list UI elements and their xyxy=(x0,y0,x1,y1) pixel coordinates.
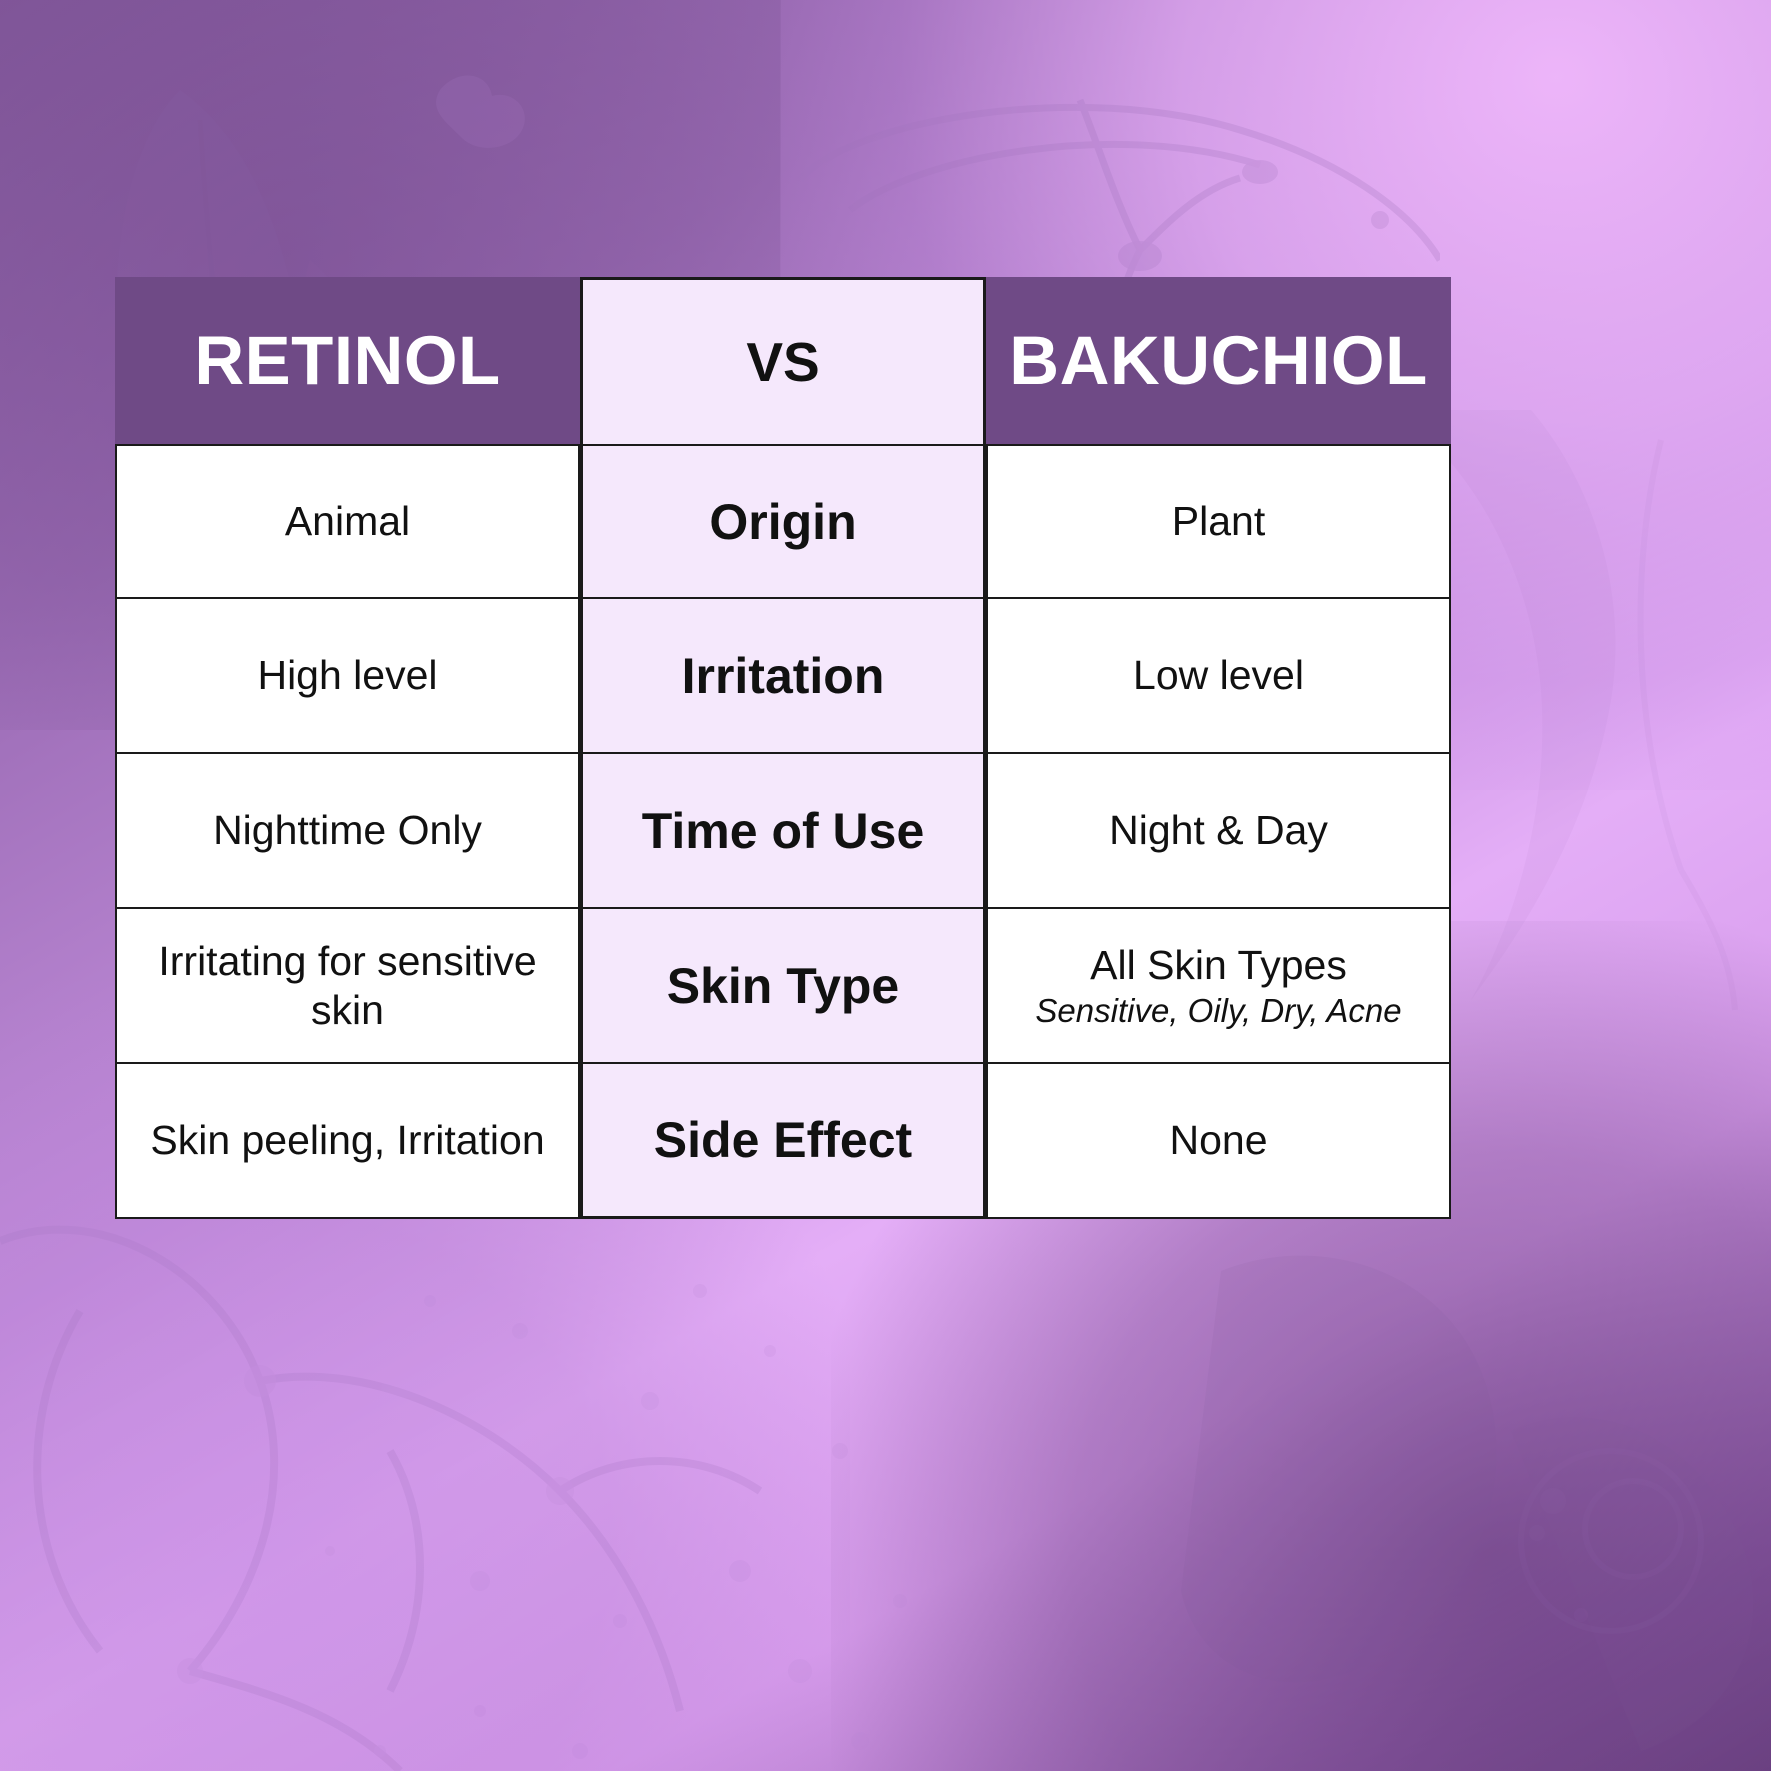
cell-bakuchiol-skin-type: All Skin Types Sensitive, Oily, Dry, Acn… xyxy=(986,909,1451,1064)
cell-main-text: None xyxy=(1169,1116,1267,1164)
cell-bakuchiol-time-of-use: Night & Day xyxy=(986,754,1451,909)
cell-label-side-effect: Side Effect xyxy=(580,1064,986,1219)
cell-retinol-origin: Animal xyxy=(115,444,580,599)
cell-retinol-irritation: High level xyxy=(115,599,580,754)
table-row: High level Irritation Low level xyxy=(115,599,1451,754)
cell-retinol-skin-type: Irritating for sensitive skin xyxy=(115,909,580,1064)
header-cell-vs: VS xyxy=(580,277,986,444)
table-row: Animal Origin Plant xyxy=(115,444,1451,599)
table-header-row: RETINOL VS BAKUCHIOL xyxy=(115,277,1451,444)
cell-label-origin: Origin xyxy=(580,444,986,599)
cell-main-text: Plant xyxy=(1172,497,1265,545)
cell-main-text: Night & Day xyxy=(1109,806,1328,854)
cell-bakuchiol-origin: Plant xyxy=(986,444,1451,599)
cell-label-time-of-use: Time of Use xyxy=(580,754,986,909)
table-row: Irritating for sensitive skin Skin Type … xyxy=(115,909,1451,1064)
cell-retinol-time-of-use: Nighttime Only xyxy=(115,754,580,909)
cell-label-irritation: Irritation xyxy=(580,599,986,754)
cell-main-text: All Skin Types xyxy=(1090,941,1347,989)
header-cell-bakuchiol: BAKUCHIOL xyxy=(986,277,1451,444)
cell-label-skin-type: Skin Type xyxy=(580,909,986,1064)
header-cell-retinol: RETINOL xyxy=(115,277,580,444)
cell-bakuchiol-side-effect: None xyxy=(986,1064,1451,1219)
cell-retinol-side-effect: Skin peeling, Irritation xyxy=(115,1064,580,1219)
comparison-table: RETINOL VS BAKUCHIOL Animal Origin Plant… xyxy=(115,277,1451,1220)
cell-bakuchiol-irritation: Low level xyxy=(986,599,1451,754)
table-row: Nighttime Only Time of Use Night & Day xyxy=(115,754,1451,909)
cell-main-text: Low level xyxy=(1133,651,1304,699)
cell-sub-text: Sensitive, Oily, Dry, Acne xyxy=(1035,991,1401,1031)
table-row: Skin peeling, Irritation Side Effect Non… xyxy=(115,1064,1451,1219)
